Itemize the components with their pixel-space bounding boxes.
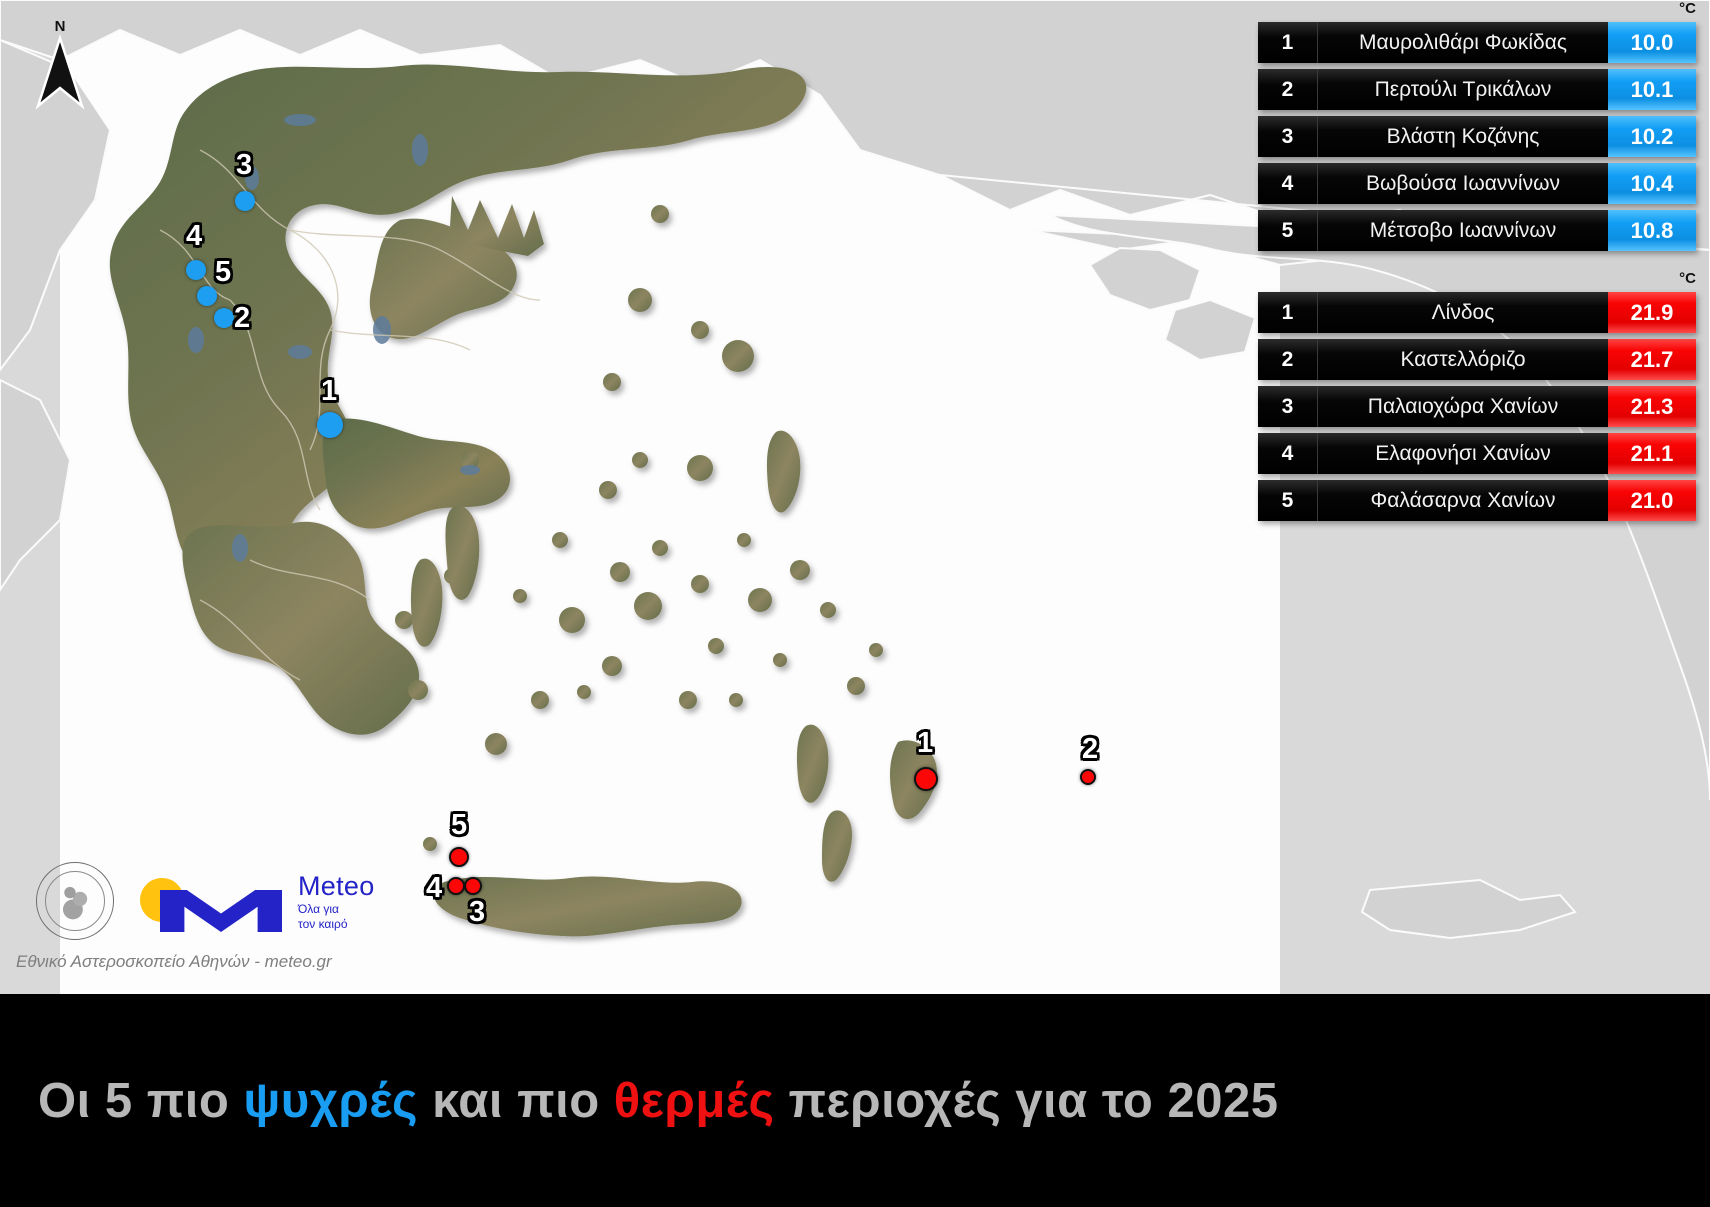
warm-rank: 5 (1258, 480, 1318, 521)
warm-marker-4-label: 4 (426, 874, 442, 903)
warmest-locations-panel: °C 1 Λίνδος 21.9 2 Καστελλόριζο 21.7 3 Π… (1258, 292, 1696, 527)
warm-station-name: Καστελλόριζο (1318, 339, 1608, 380)
cold-marker-4-label: 4 (186, 222, 202, 251)
warm-marker-5-label: 5 (451, 811, 467, 840)
meteo-tagline-line2: τον καιρό (298, 917, 375, 931)
warm-rank: 1 (1258, 292, 1318, 333)
cold-marker-2-dot (214, 308, 234, 328)
cold-temperature: 10.2 (1608, 116, 1696, 157)
cold-temperature: 10.1 (1608, 69, 1696, 110)
table-row[interactable]: 4 Βωβούσα Ιωαννίνων 10.4 (1258, 163, 1696, 204)
cold-temperature: 10.8 (1608, 210, 1696, 251)
credit-text: Εθνικό Αστεροσκοπείο Αθηνών - meteo.gr (16, 952, 332, 972)
meteo-logo: Meteo Όλα για τον καιρό (138, 870, 375, 932)
coldest-locations-panel: °C 1 Μαυρολιθάρι Φωκίδας 10.0 2 Περτούλι… (1258, 22, 1696, 257)
cold-rank: 4 (1258, 163, 1318, 204)
warm-marker-2-dot (1080, 769, 1096, 785)
table-row[interactable]: 4 Ελαφονήσι Χανίων 21.1 (1258, 433, 1696, 474)
cold-marker-2-label: 2 (234, 304, 250, 333)
warm-unit-label: °C (1679, 270, 1696, 287)
cold-rank: 3 (1258, 116, 1318, 157)
cold-station-name: Βλάστη Κοζάνης (1318, 116, 1608, 157)
logo-row: Meteo Όλα για τον καιρό (36, 862, 375, 940)
cold-marker-3-label: 3 (236, 151, 252, 180)
warm-marker-5-dot (449, 847, 469, 867)
warm-marker-3-dot (464, 877, 482, 895)
infographic-canvas: N 1 2 3 4 5 1 (0, 0, 1710, 1207)
warm-temperature: 21.9 (1608, 292, 1696, 333)
warm-rank: 4 (1258, 433, 1318, 474)
table-row[interactable]: 3 Παλαιοχώρα Χανίων 21.3 (1258, 386, 1696, 427)
cold-rank: 1 (1258, 22, 1318, 63)
north-arrow: N (30, 18, 90, 118)
caption-cold-word: ψυχρές (243, 1074, 418, 1128)
cold-unit-label: °C (1679, 0, 1696, 17)
table-row[interactable]: 1 Λίνδος 21.9 (1258, 292, 1696, 333)
cold-marker-4-dot (186, 260, 206, 280)
cold-station-name: Βωβούσα Ιωαννίνων (1318, 163, 1608, 204)
table-row[interactable]: 2 Περτούλι Τρικάλων 10.1 (1258, 69, 1696, 110)
table-row[interactable]: 1 Μαυρολιθάρι Φωκίδας 10.0 (1258, 22, 1696, 63)
warm-marker-2-label: 2 (1082, 735, 1098, 764)
meteo-brand-name: Meteo (298, 871, 375, 902)
table-row[interactable]: 5 Μέτσοβο Ιωαννίνων 10.8 (1258, 210, 1696, 251)
warm-temperature: 21.3 (1608, 386, 1696, 427)
caption-part-3: περιοχές για το 2025 (774, 1074, 1278, 1128)
cold-marker-5-dot (197, 286, 217, 306)
caption-part-1: Οι 5 πιο (38, 1074, 243, 1128)
cold-marker-3-dot (235, 191, 255, 211)
caption-warm-word: θερμές (614, 1074, 775, 1128)
warm-station-name: Παλαιοχώρα Χανίων (1318, 386, 1608, 427)
warm-temperature: 21.1 (1608, 433, 1696, 474)
warm-station-name: Φαλάσαρνα Χανίων (1318, 480, 1608, 521)
caption-text: Οι 5 πιο ψυχρές και πιο θερμές περιοχές … (38, 1073, 1278, 1129)
warm-rank: 2 (1258, 339, 1318, 380)
national-observatory-seal-icon (36, 862, 114, 940)
letter-m-icon (160, 890, 282, 932)
caption-bar: Οι 5 πιο ψυχρές και πιο θερμές περιοχές … (0, 994, 1710, 1207)
warm-marker-3-label: 3 (469, 898, 485, 927)
cold-marker-1-label: 1 (321, 377, 337, 406)
table-row[interactable]: 5 Φαλάσαρνα Χανίων 21.0 (1258, 480, 1696, 521)
cold-temperature: 10.0 (1608, 22, 1696, 63)
cold-rank: 5 (1258, 210, 1318, 251)
warm-marker-1-dot (914, 767, 938, 791)
cold-station-name: Περτούλι Τρικάλων (1318, 69, 1608, 110)
meteo-tagline-line1: Όλα για (298, 902, 375, 916)
warm-temperature: 21.0 (1608, 480, 1696, 521)
table-row[interactable]: 3 Βλάστη Κοζάνης 10.2 (1258, 116, 1696, 157)
warm-marker-1-label: 1 (917, 729, 933, 758)
warm-station-name: Ελαφονήσι Χανίων (1318, 433, 1608, 474)
cold-rank: 2 (1258, 69, 1318, 110)
cold-marker-1-dot (317, 412, 343, 438)
warm-rank: 3 (1258, 386, 1318, 427)
warm-temperature: 21.7 (1608, 339, 1696, 380)
caption-part-2: και πιο (418, 1074, 614, 1128)
cold-station-name: Μέτσοβο Ιωαννίνων (1318, 210, 1608, 251)
meteo-mark-icon (138, 870, 288, 932)
cold-marker-5-label: 5 (215, 258, 231, 287)
cold-temperature: 10.4 (1608, 163, 1696, 204)
north-arrow-label: N (30, 18, 90, 35)
warm-marker-4-dot (447, 877, 465, 895)
table-row[interactable]: 2 Καστελλόριζο 21.7 (1258, 339, 1696, 380)
warm-station-name: Λίνδος (1318, 292, 1608, 333)
cold-station-name: Μαυρολιθάρι Φωκίδας (1318, 22, 1608, 63)
